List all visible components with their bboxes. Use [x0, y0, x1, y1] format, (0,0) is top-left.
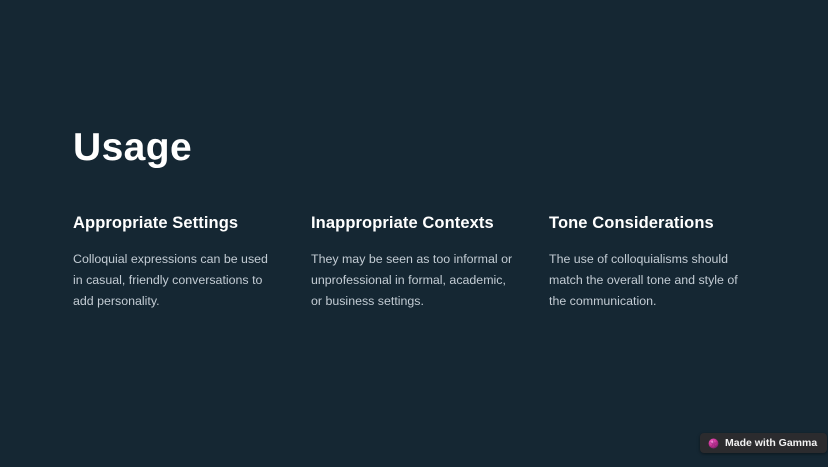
column-heading: Inappropriate Contexts — [311, 213, 516, 233]
page-title: Usage — [73, 125, 773, 171]
column-body: Colloquial expressions can be used in ca… — [73, 249, 278, 312]
column-body: The use of colloquialisms should match t… — [549, 249, 754, 312]
made-with-gamma-badge[interactable]: Made with Gamma — [700, 433, 827, 453]
column-appropriate-settings: Appropriate Settings Colloquial expressi… — [73, 213, 278, 312]
column-inappropriate-contexts: Inappropriate Contexts They may be seen … — [311, 213, 516, 312]
column-tone-considerations: Tone Considerations The use of colloquia… — [549, 213, 754, 312]
column-heading: Appropriate Settings — [73, 213, 278, 233]
gamma-logo-icon — [708, 438, 719, 449]
slide-content: Usage Appropriate Settings Colloquial ex… — [73, 125, 773, 312]
slide-canvas: Usage Appropriate Settings Colloquial ex… — [0, 0, 828, 467]
made-with-gamma-label: Made with Gamma — [725, 433, 817, 453]
column-group: Appropriate Settings Colloquial expressi… — [73, 213, 773, 312]
column-heading: Tone Considerations — [549, 213, 754, 233]
column-body: They may be seen as too informal or unpr… — [311, 249, 516, 312]
